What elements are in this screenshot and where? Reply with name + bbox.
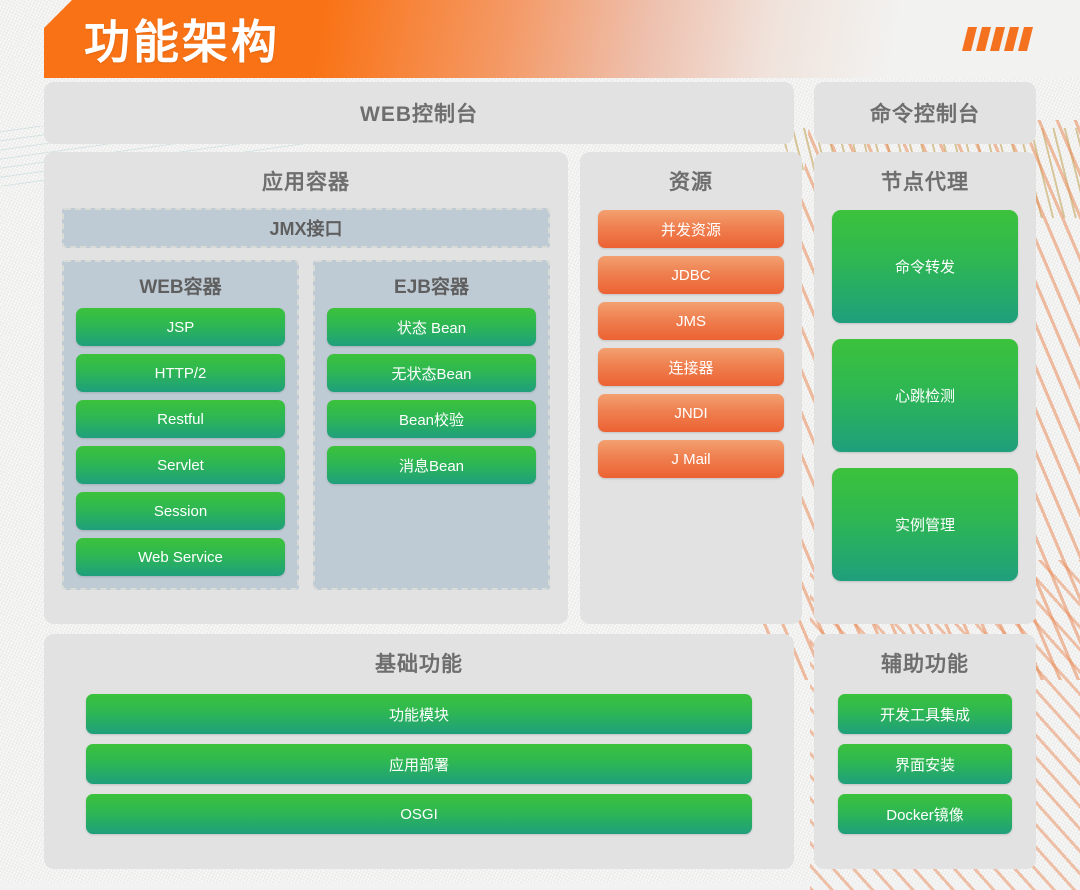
auxiliary-functions-title: 辅助功能 (838, 648, 1012, 678)
ejb-item-bean-validation[interactable]: Bean校验 (327, 400, 536, 438)
header-banner: 功能架构 (44, 0, 1080, 78)
basic-item-function-module[interactable]: 功能模块 (86, 694, 752, 734)
resources-item-list: 并发资源 JDBC JMS 连接器 JNDI J Mail (598, 210, 784, 478)
application-container-title: 应用容器 (62, 166, 550, 196)
resource-item-connector[interactable]: 连接器 (598, 348, 784, 386)
aux-item-ui-install[interactable]: 界面安装 (838, 744, 1012, 784)
panel-basic-functions: 基础功能 功能模块 应用部署 OSGI (44, 634, 794, 869)
ejb-item-stateful-bean[interactable]: 状态 Bean (327, 308, 536, 346)
slash-marks-decoration (965, 27, 1030, 51)
panel-resources: 资源 并发资源 JDBC JMS 连接器 JNDI J Mail (580, 152, 802, 624)
panel-node-agent: 节点代理 命令转发 心跳检测 实例管理 (814, 152, 1036, 624)
subpanel-ejb-container: EJB容器 状态 Bean 无状态Bean Bean校验 消息Bean (313, 260, 550, 590)
node-agent-item-command-forward[interactable]: 命令转发 (832, 210, 1018, 323)
web-item-web-service[interactable]: Web Service (76, 538, 285, 576)
resource-item-jms[interactable]: JMS (598, 302, 784, 340)
resource-item-jndi[interactable]: JNDI (598, 394, 784, 432)
node-agent-title: 节点代理 (832, 166, 1018, 196)
command-console-title: 命令控制台 (870, 98, 980, 128)
node-agent-item-heartbeat[interactable]: 心跳检测 (832, 339, 1018, 452)
node-agent-item-instance-management[interactable]: 实例管理 (832, 468, 1018, 581)
ejb-item-message-bean[interactable]: 消息Bean (327, 446, 536, 484)
basic-functions-title: 基础功能 (86, 648, 752, 678)
panel-web-console: WEB控制台 (44, 82, 794, 144)
web-item-jsp[interactable]: JSP (76, 308, 285, 346)
panel-command-console: 命令控制台 (814, 82, 1036, 144)
ejb-item-stateless-bean[interactable]: 无状态Bean (327, 354, 536, 392)
node-agent-item-list: 命令转发 心跳检测 实例管理 (832, 210, 1018, 581)
aux-item-dev-tool-integration[interactable]: 开发工具集成 (838, 694, 1012, 734)
panel-application-container: 应用容器 JMX接口 WEB容器 JSP HTTP/2 Restful Serv… (44, 152, 568, 624)
resource-item-concurrency[interactable]: 并发资源 (598, 210, 784, 248)
ejb-container-title: EJB容器 (327, 272, 536, 299)
basic-item-app-deploy[interactable]: 应用部署 (86, 744, 752, 784)
web-container-title: WEB容器 (76, 272, 285, 299)
subpanel-web-container: WEB容器 JSP HTTP/2 Restful Servlet Session… (62, 260, 299, 590)
jmx-interface-box: JMX接口 (62, 208, 550, 248)
auxiliary-functions-item-list: 开发工具集成 界面安装 Docker镜像 (838, 694, 1012, 834)
web-console-title: WEB控制台 (360, 98, 478, 128)
basic-item-osgi[interactable]: OSGI (86, 794, 752, 834)
web-item-session[interactable]: Session (76, 492, 285, 530)
page-title: 功能架构 (84, 6, 280, 72)
panel-auxiliary-functions: 辅助功能 开发工具集成 界面安装 Docker镜像 (814, 634, 1036, 869)
ejb-container-item-list: 状态 Bean 无状态Bean Bean校验 消息Bean (327, 308, 536, 484)
container-subpanel-row: WEB容器 JSP HTTP/2 Restful Servlet Session… (62, 260, 550, 590)
resources-title: 资源 (598, 166, 784, 196)
basic-functions-item-list: 功能模块 应用部署 OSGI (86, 694, 752, 834)
web-item-http2[interactable]: HTTP/2 (76, 354, 285, 392)
web-item-servlet[interactable]: Servlet (76, 446, 285, 484)
web-container-item-list: JSP HTTP/2 Restful Servlet Session Web S… (76, 308, 285, 576)
aux-item-docker-image[interactable]: Docker镜像 (838, 794, 1012, 834)
resource-item-jdbc[interactable]: JDBC (598, 256, 784, 294)
resource-item-jmail[interactable]: J Mail (598, 440, 784, 478)
web-item-restful[interactable]: Restful (76, 400, 285, 438)
